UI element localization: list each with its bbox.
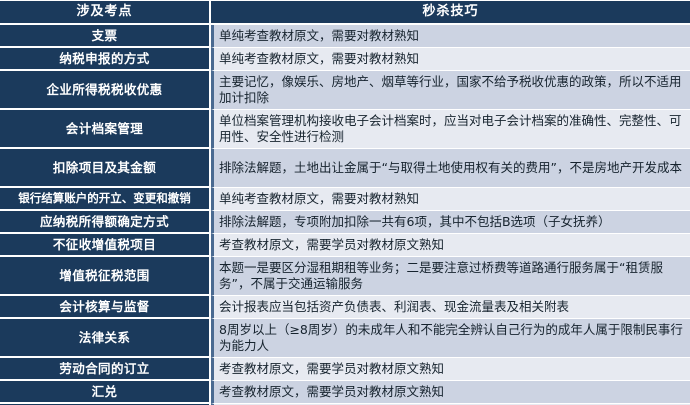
cell-trick: 考查教材原文，需要学员对教材原文熟知: [211, 234, 690, 257]
table-body: 支票单纯考查教材原文，需要对教材熟知纳税申报的方式单纯考查教材原文，需要对教材熟…: [0, 25, 690, 405]
table-row: 会计档案管理单位档案管理机构接收电子会计档案时，应当对电子会计档案的准确性、完整…: [0, 110, 690, 149]
header-row: 涉及考点 秒杀技巧: [0, 0, 690, 25]
cell-exam-point: 应纳税所得额确定方式: [0, 211, 211, 234]
cell-trick: 单纯考查教材原文，需要对教材熟知: [211, 48, 690, 71]
table-row: 劳动合同的订立考查教材原文，需要学员对教材原文熟知: [0, 358, 690, 381]
table-row: 银行结算账户的开立、变更和撤销单纯考查教材原文，需要对教材熟知: [0, 188, 690, 211]
cell-trick: 会计报表应当包括资产负债表、利润表、现金流量表及相关附表: [211, 296, 690, 319]
table-row: 应纳税所得额确定方式排除法解题，专项附加扣除一共有6项，其中不包括B选项（子女抚…: [0, 211, 690, 234]
cell-trick: 排除法解题，专项附加扣除一共有6项，其中不包括B选项（子女抚养）: [211, 211, 690, 234]
cell-exam-point: 会计核算与监督: [0, 296, 211, 319]
table-row: 法律关系8周岁以上（≥8周岁）的未成年人和不能完全辨认自己行为的成年人属于限制民…: [0, 319, 690, 358]
cell-exam-point: 企业所得税税收优惠: [0, 71, 211, 110]
table-row: 纳税申报的方式单纯考查教材原文，需要对教材熟知: [0, 48, 690, 71]
cell-exam-point: 纳税申报的方式: [0, 48, 211, 71]
cell-trick: 考查教材原文，需要学员对教材原文熟知: [211, 381, 690, 404]
exam-points-table: 涉及考点 秒杀技巧 支票单纯考查教材原文，需要对教材熟知纳税申报的方式单纯考查教…: [0, 0, 690, 405]
cell-trick: 排除法解题，土地出让金属于“与取得土地使用权有关的费用”，不是房地产开发成本: [211, 149, 690, 188]
cell-trick: 单纯考查教材原文，需要对教材熟知: [211, 25, 690, 48]
cell-trick: 单纯考查教材原文，需要对教材熟知: [211, 188, 690, 211]
table-row: 扣除项目及其金额排除法解题，土地出让金属于“与取得土地使用权有关的费用”，不是房…: [0, 149, 690, 188]
table-header: 涉及考点 秒杀技巧: [0, 0, 690, 25]
table-row: 会计核算与监督会计报表应当包括资产负债表、利润表、现金流量表及相关附表: [0, 296, 690, 319]
table-row: 汇兑考查教材原文，需要学员对教材原文熟知: [0, 381, 690, 404]
cell-trick: 主要记忆，像娱乐、房地产、烟草等行业，国家不给予税收优惠的政策，所以不适用加计扣…: [211, 71, 690, 110]
column-header-trick: 秒杀技巧: [211, 0, 690, 25]
table-sheet: 正保 会计网校 chinaacc.com 涉及考点 秒杀技巧 支票单纯考查教材原…: [0, 0, 690, 405]
cell-exam-point: 扣除项目及其金额: [0, 149, 211, 188]
cell-trick: 考查教材原文，需要学员对教材原文熟知: [211, 358, 690, 381]
table-row: 支票单纯考查教材原文，需要对教材熟知: [0, 25, 690, 48]
cell-trick: 8周岁以上（≥8周岁）的未成年人和不能完全辨认自己行为的成年人属于限制民事行为能…: [211, 319, 690, 358]
table-row: 增值税征税范围本题一是要区分湿租期租等业务；二是要注意过桥费等道路通行服务属于“…: [0, 257, 690, 296]
table-row: 企业所得税税收优惠主要记忆，像娱乐、房地产、烟草等行业，国家不给予税收优惠的政策…: [0, 71, 690, 110]
cell-exam-point: 增值税征税范围: [0, 257, 211, 296]
cell-exam-point: 支票: [0, 25, 211, 48]
cell-exam-point: 会计档案管理: [0, 110, 211, 149]
column-header-point: 涉及考点: [0, 0, 211, 25]
cell-exam-point: 银行结算账户的开立、变更和撤销: [0, 188, 211, 211]
cell-exam-point: 劳动合同的订立: [0, 358, 211, 381]
cell-trick: 单位档案管理机构接收电子会计档案时，应当对电子会计档案的准确性、完整性、可用性、…: [211, 110, 690, 149]
cell-trick: 本题一是要区分湿租期租等业务；二是要注意过桥费等道路通行服务属于“租赁服务”，不…: [211, 257, 690, 296]
cell-exam-point: 不征收增值税项目: [0, 234, 211, 257]
cell-exam-point: 汇兑: [0, 381, 211, 404]
table-row: 不征收增值税项目考查教材原文，需要学员对教材原文熟知: [0, 234, 690, 257]
cell-exam-point: 法律关系: [0, 319, 211, 358]
